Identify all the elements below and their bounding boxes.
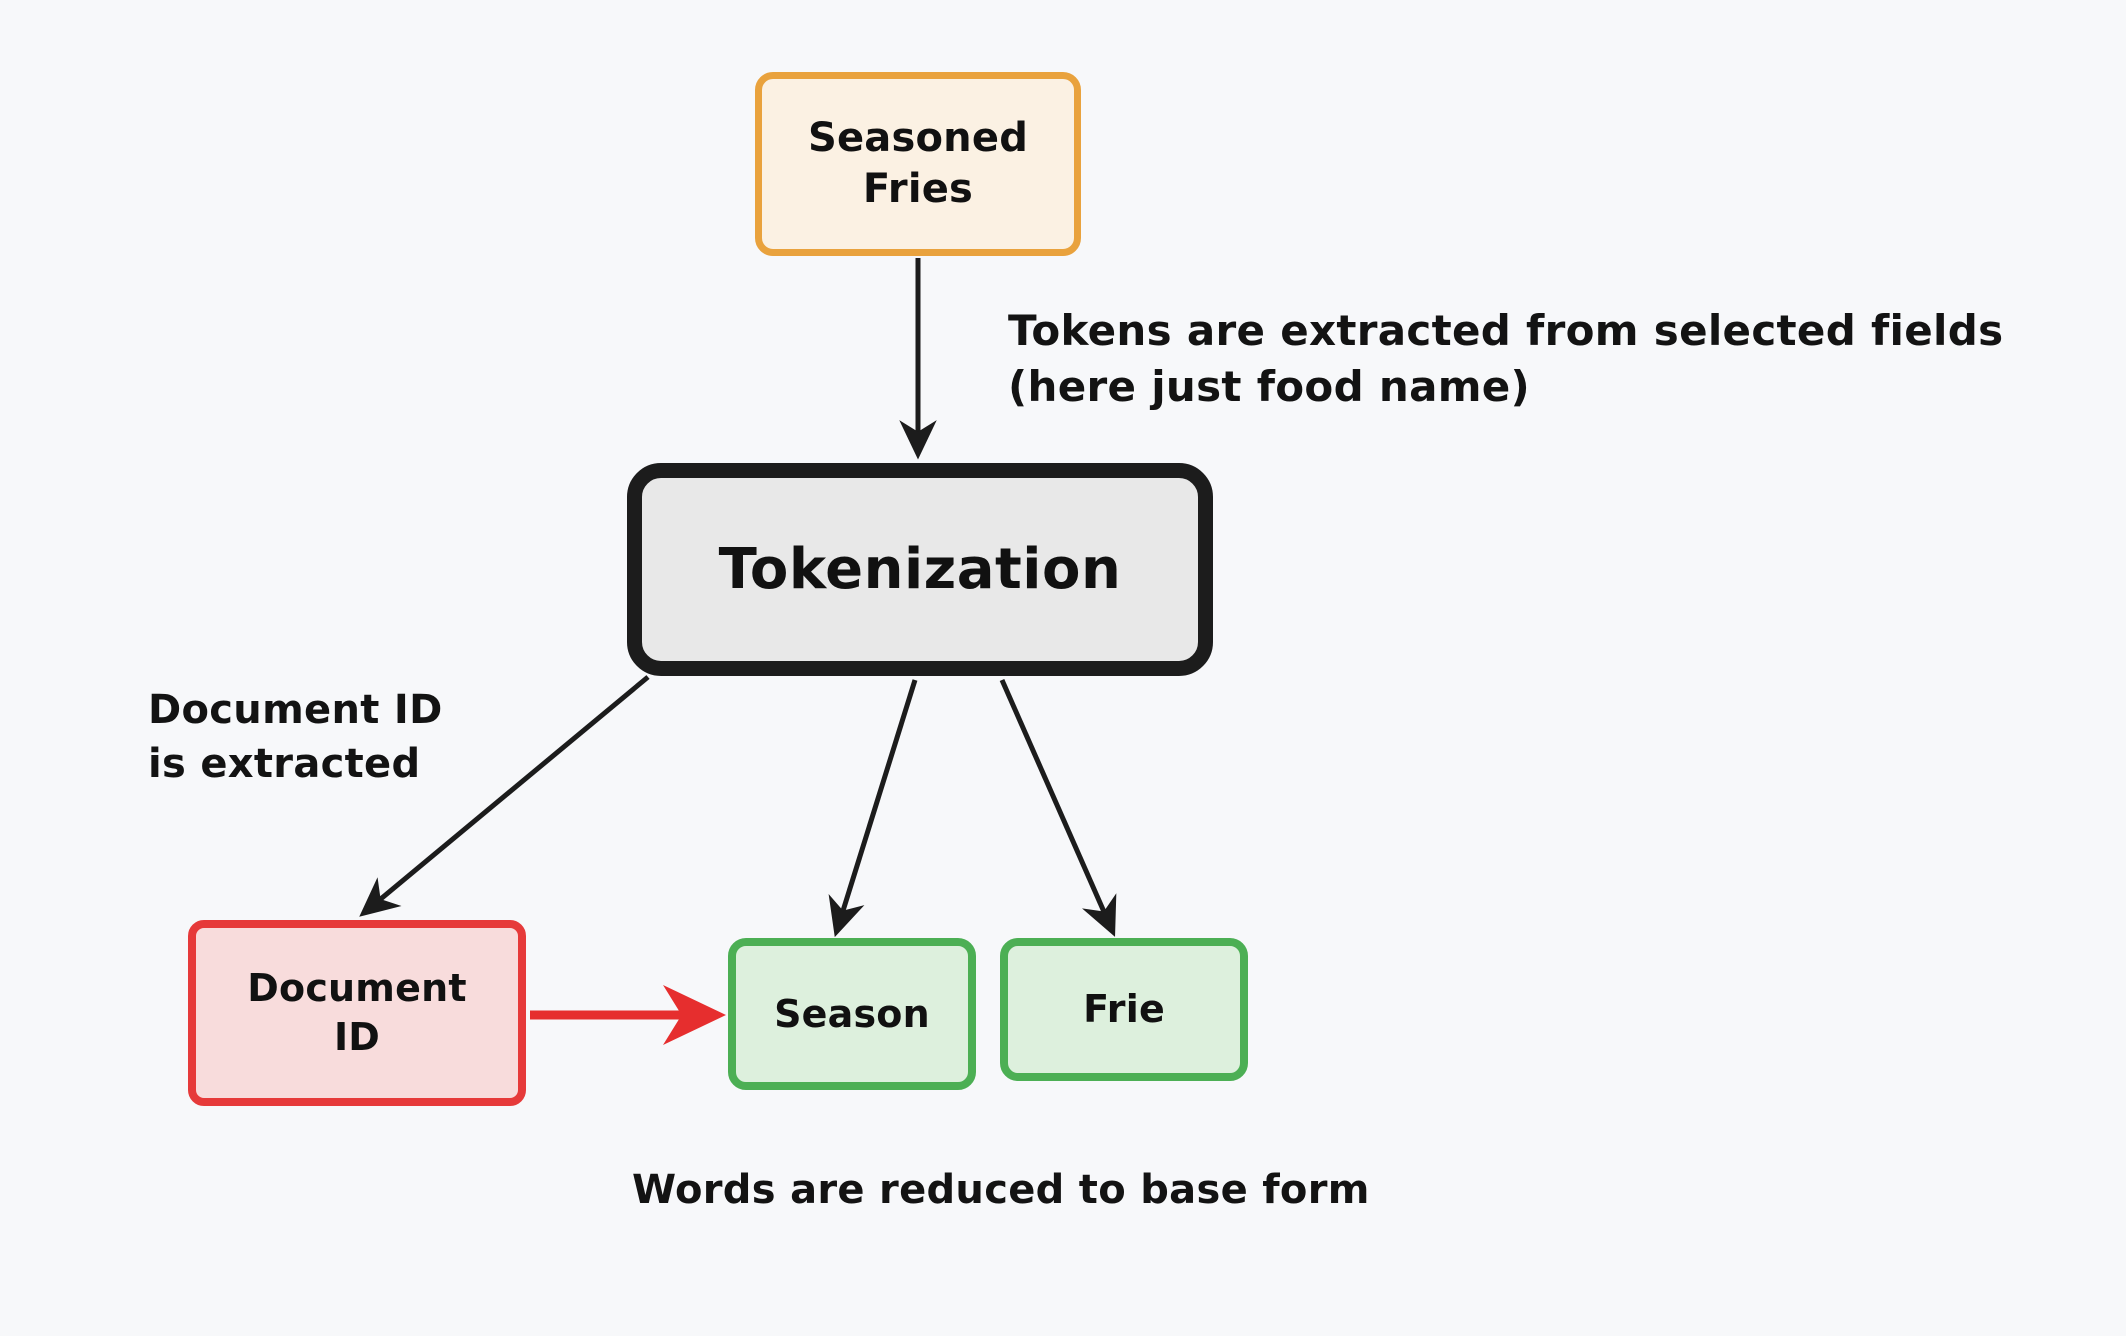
annotation-document-id-extracted: Document ID is extracted	[148, 684, 608, 791]
node-frie[interactable]: Frie	[1000, 938, 1248, 1081]
node-frie-label: Frie	[1083, 985, 1165, 1034]
node-document-id[interactable]: Document ID	[188, 920, 526, 1106]
edge-tokenization-to-season	[837, 680, 915, 930]
node-tokenization-label: Tokenization	[719, 534, 1122, 606]
annotation-words-reduced: Words are reduced to base form	[632, 1164, 1532, 1218]
node-seasoned-fries-label: Seasoned Fries	[808, 113, 1028, 215]
node-season-label: Season	[774, 990, 930, 1039]
node-seasoned-fries[interactable]: Seasoned Fries	[755, 72, 1081, 256]
annotation-tokens-extracted: Tokens are extracted from selected field…	[1008, 303, 2088, 416]
node-document-id-label: Document ID	[247, 964, 466, 1061]
node-tokenization[interactable]: Tokenization	[627, 463, 1213, 676]
edge-tokenization-to-frie	[1002, 680, 1112, 930]
diagram-canvas: Seasoned Fries Tokenization Document ID …	[0, 0, 2126, 1336]
node-season[interactable]: Season	[728, 938, 976, 1090]
